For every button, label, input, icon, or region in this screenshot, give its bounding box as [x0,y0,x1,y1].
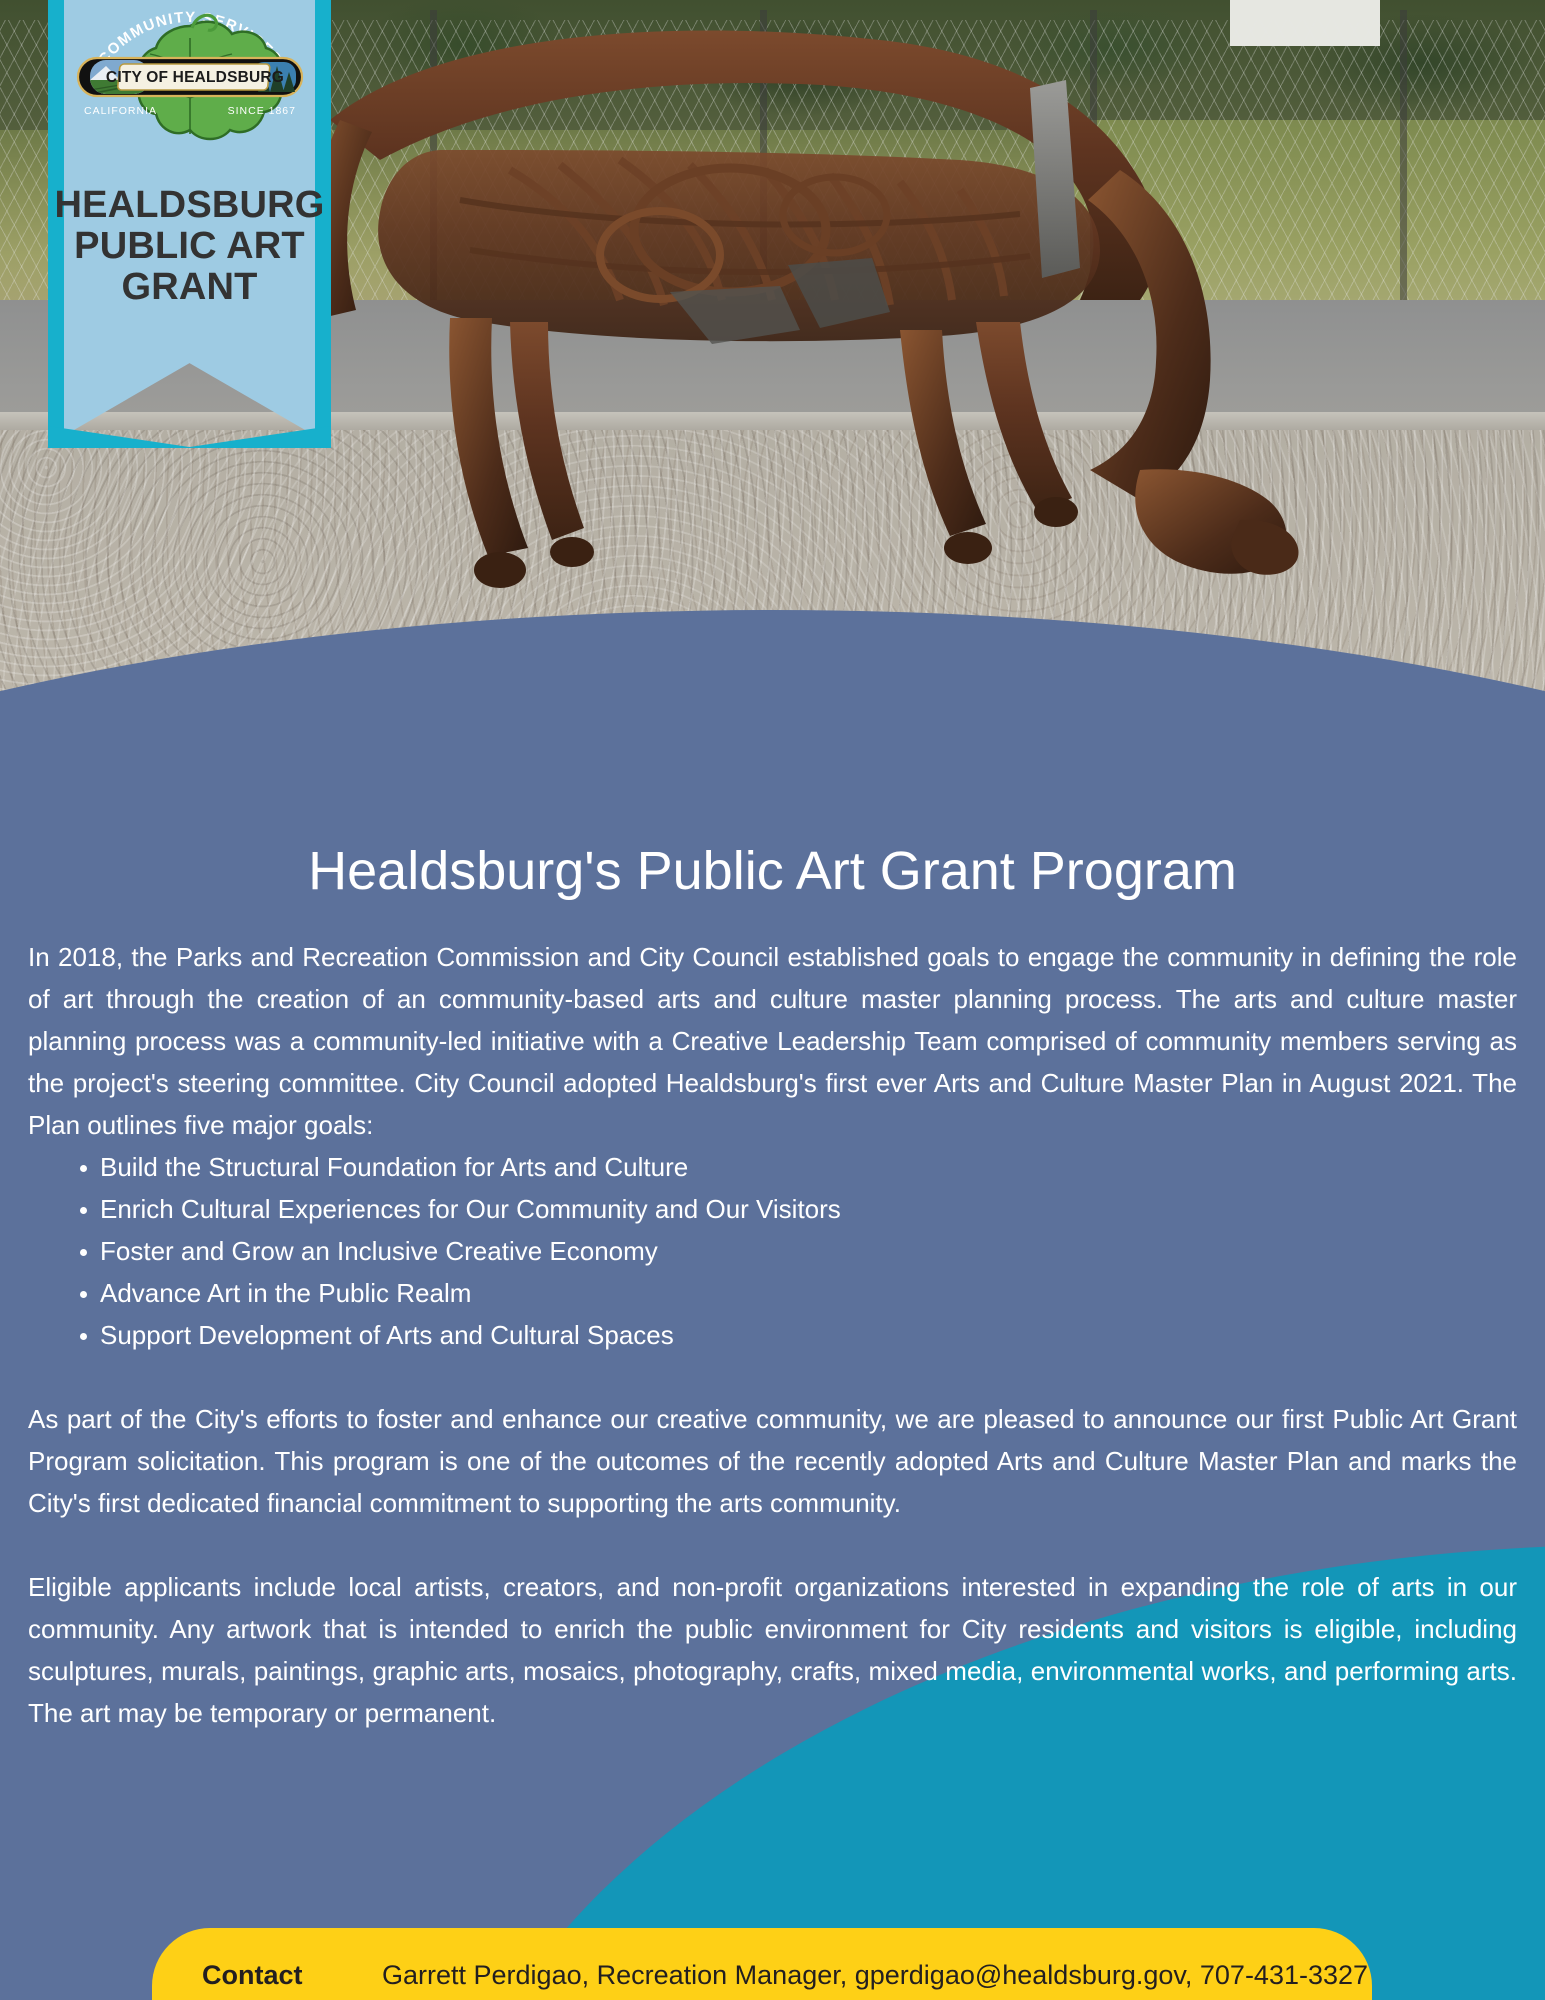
main-content: Healdsburg's Public Art Grant Program In… [0,840,1545,1734]
page-title: Healdsburg's Public Art Grant Program [0,840,1545,902]
logo-center-text: CITY OF HEALDSBURG [106,69,284,86]
ribbon-title-line-3: GRANT [48,267,331,308]
logo-banner-bar: CITY OF HEALDSBURG [78,58,302,96]
list-item: Build the Structural Foundation for Arts… [70,1146,1517,1188]
eligibility-paragraph: Eligible applicants include local artist… [28,1566,1517,1734]
fence-post [1400,10,1407,310]
list-item: Foster and Grow an Inclusive Creative Ec… [70,1230,1517,1272]
intro-paragraph: In 2018, the Parks and Recreation Commis… [28,936,1517,1146]
ribbon-title-line-2: PUBLIC ART [48,226,331,267]
horse-sculpture [260,0,1320,660]
contact-label: Contact [202,1960,303,1991]
logo-right-text: SINCE 1867 [228,105,296,117]
ribbon-title-line-1: HEALDSBURG [48,185,331,226]
city-of-healdsburg-logo: COMMUNITY SERVICES [64,8,316,148]
contact-details[interactable]: Garrett Perdigao, Recreation Manager, gp… [382,1960,1368,1991]
logo-left-text: CALIFORNIA [84,105,157,117]
contact-bar: Contact Garrett Perdigao, Recreation Man… [152,1928,1372,2000]
list-item: Advance Art in the Public Realm [70,1272,1517,1314]
poster-root: COMMUNITY SERVICES [0,0,1545,2000]
ribbon-title: HEALDSBURG PUBLIC ART GRANT [48,185,331,308]
list-item: Support Development of Arts and Cultural… [70,1314,1517,1356]
goals-list: Build the Structural Foundation for Arts… [28,1146,1517,1356]
program-paragraph: As part of the City's efforts to foster … [28,1398,1517,1524]
body-copy: In 2018, the Parks and Recreation Commis… [0,936,1545,1734]
list-item: Enrich Cultural Experiences for Our Comm… [70,1188,1517,1230]
